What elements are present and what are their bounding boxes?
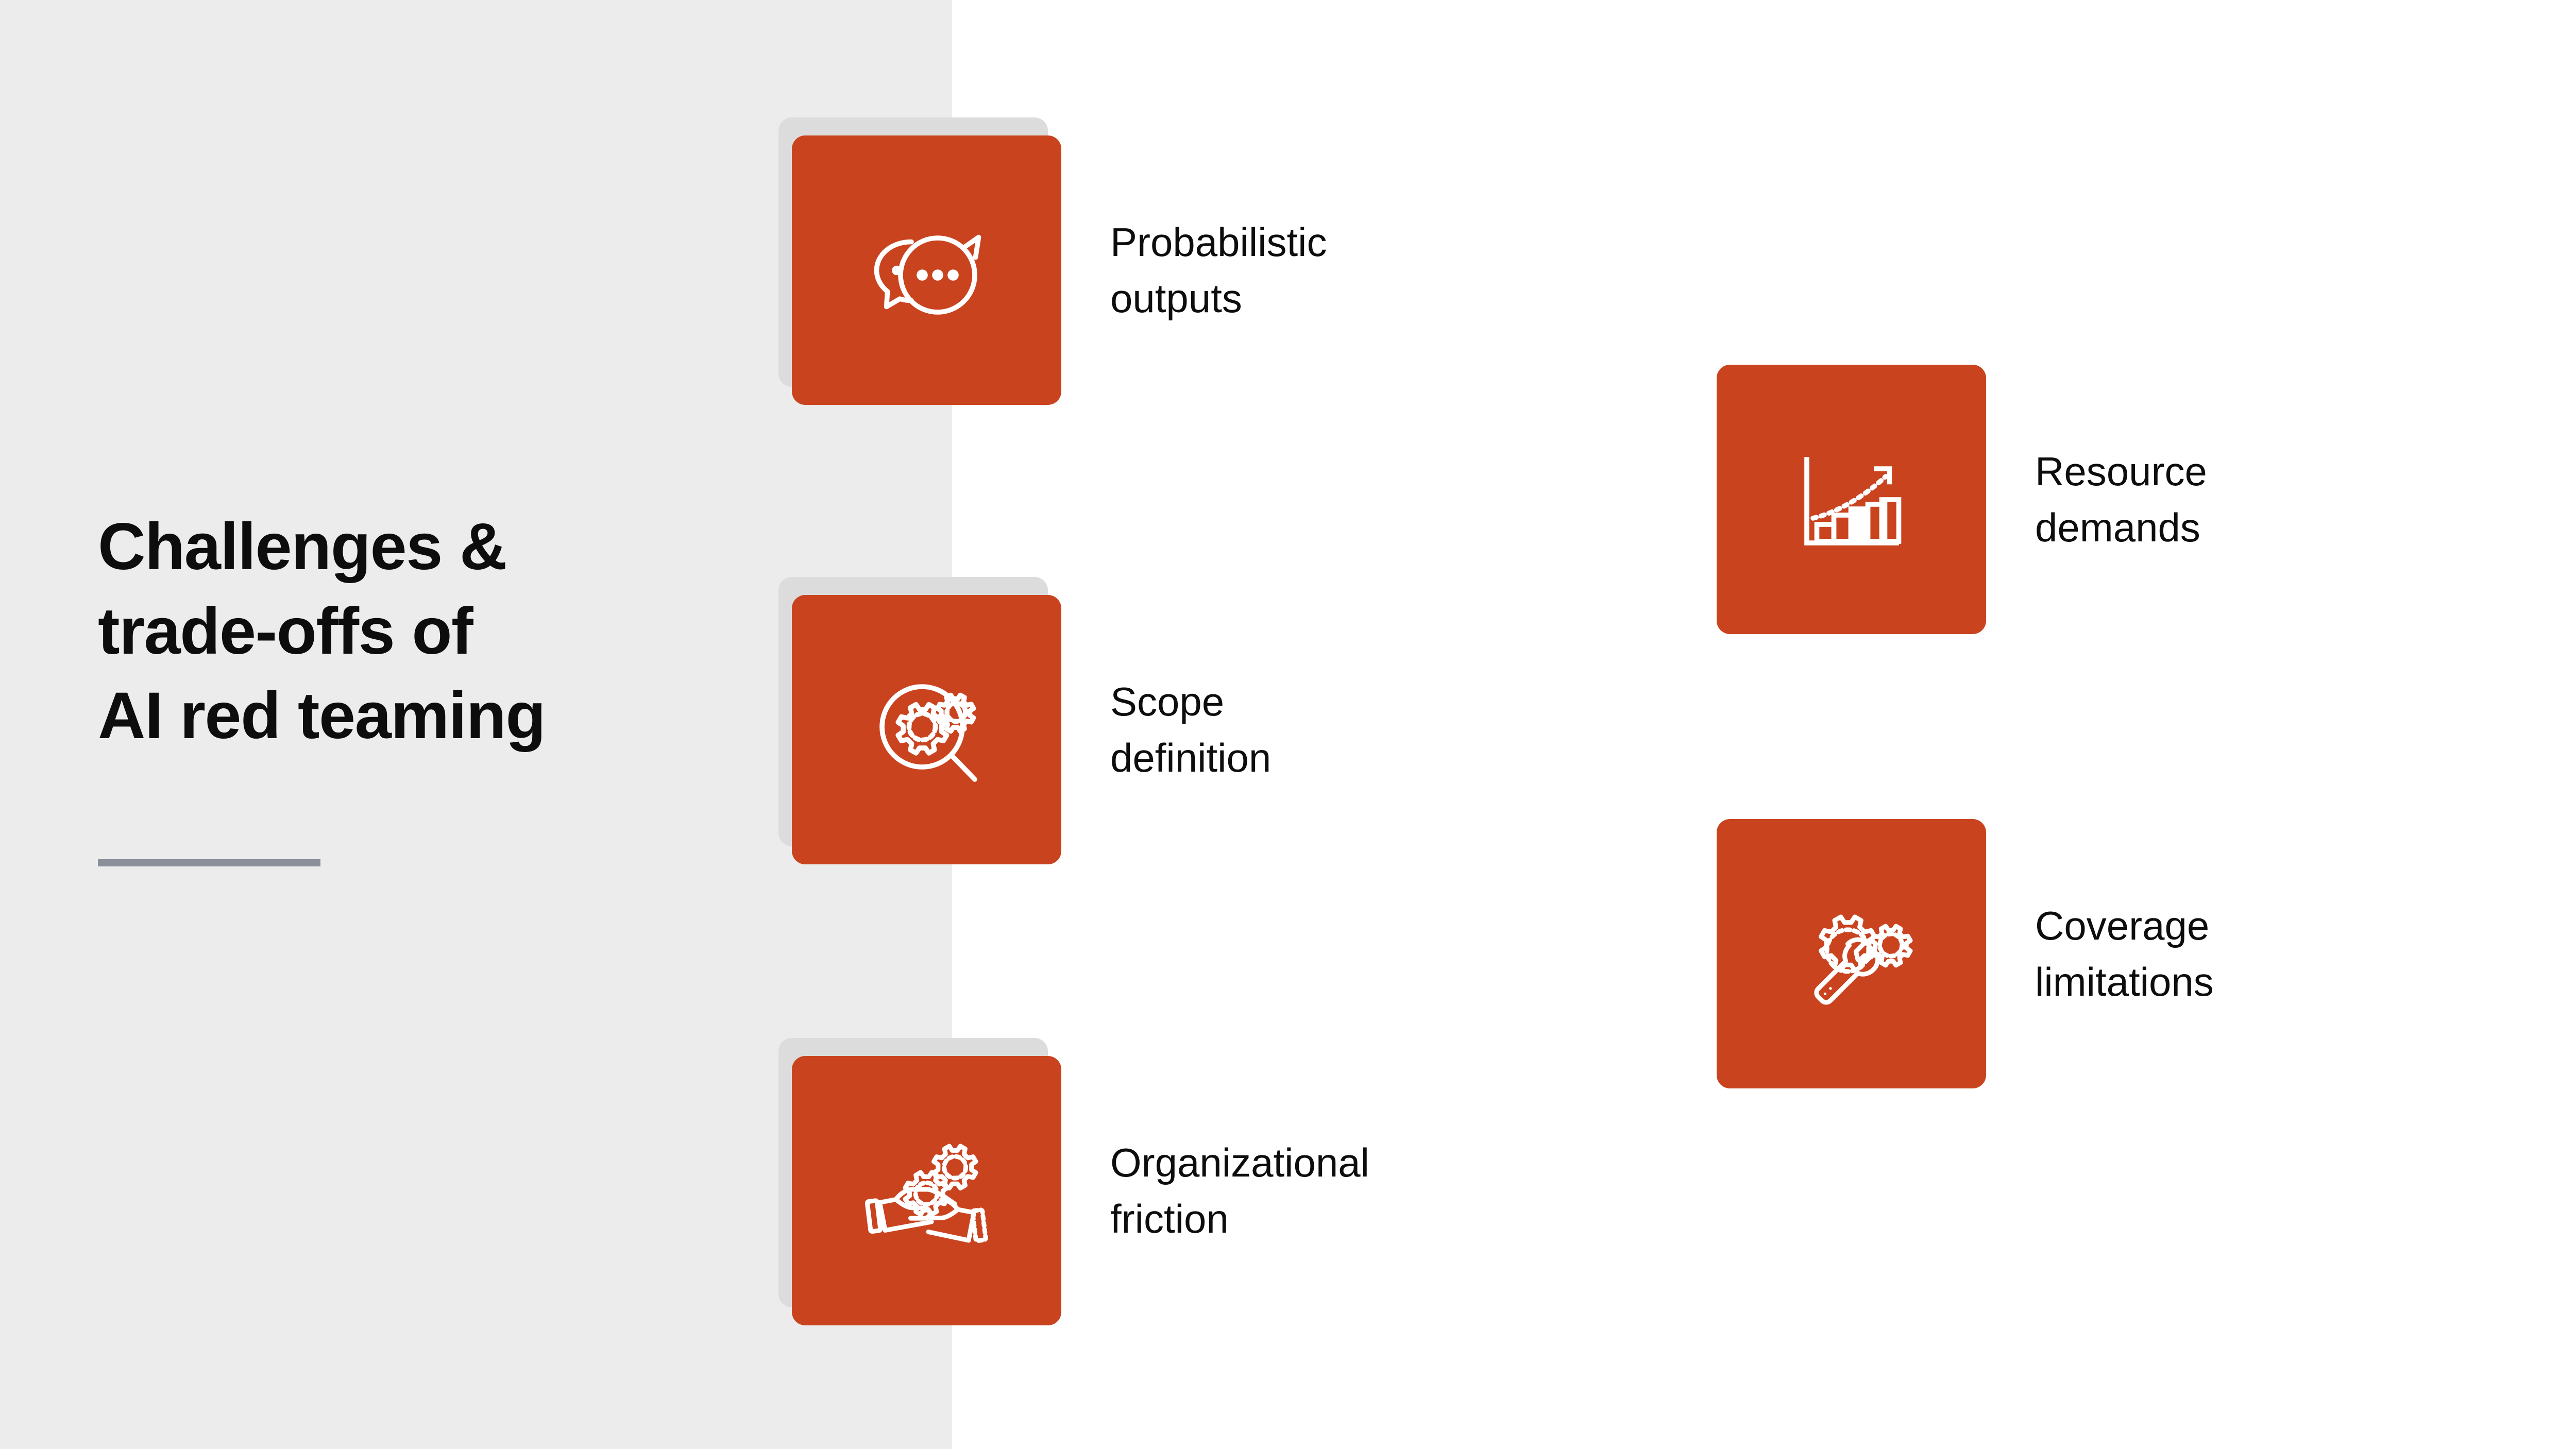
item-label: Probabilistic outputs [1110, 214, 1533, 326]
icon-tile[interactable] [792, 135, 1061, 405]
title-divider-rule [98, 859, 320, 866]
icon-tile[interactable] [792, 595, 1061, 864]
growth-bar-chart-icon [1774, 422, 1929, 577]
item-coverage-limitations[interactable]: Coverage limitations [1717, 819, 1986, 1088]
item-label: Organizational friction [1110, 1134, 1574, 1247]
item-label: Resource demands [2035, 443, 2458, 555]
wrench-gears-icon [1774, 877, 1929, 1031]
hands-gears-icon [850, 1114, 1004, 1268]
title-block: Challenges & trade-offs of AI red teamin… [98, 505, 742, 758]
icon-tile[interactable] [792, 1056, 1061, 1325]
chat-bubbles-ellipsis-icon [850, 193, 1004, 348]
item-probabilistic-outputs[interactable]: Probabilistic outputs [792, 135, 1061, 405]
page-title: Challenges & trade-offs of AI red teamin… [98, 505, 742, 758]
magnifier-gears-icon [850, 653, 1004, 807]
icon-tile[interactable] [1717, 819, 1986, 1088]
slide-canvas: Challenges & trade-offs of AI red teamin… [0, 0, 2576, 1449]
item-label: Coverage limitations [2035, 897, 2458, 1010]
item-organizational-friction[interactable]: Organizational friction [792, 1056, 1061, 1325]
icon-tile[interactable] [1717, 365, 1986, 634]
item-resource-demands[interactable]: Resource demands [1717, 365, 1986, 634]
item-label: Scope definition [1110, 673, 1533, 786]
item-scope-definition[interactable]: Scope definition [792, 595, 1061, 864]
